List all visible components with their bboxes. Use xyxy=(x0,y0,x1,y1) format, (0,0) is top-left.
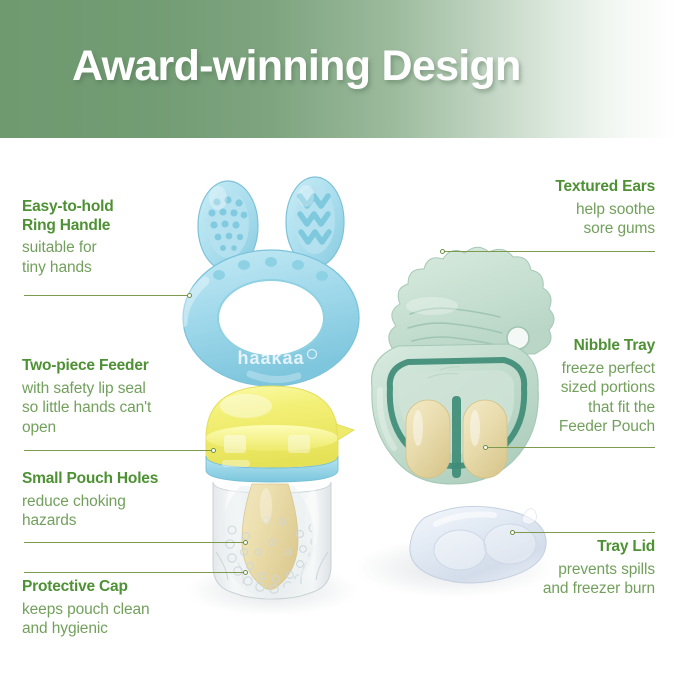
connector-line xyxy=(483,447,655,448)
connector-line xyxy=(510,532,655,533)
connector-line xyxy=(440,251,655,252)
callout-easy-to-hold-ring-handle: Easy-to-hold Ring Handle suitable for ti… xyxy=(22,198,232,277)
callout-body-line: and freezer burn xyxy=(440,579,655,599)
connector-dot xyxy=(211,448,216,453)
infographic-page: Award-winning Design xyxy=(0,0,679,679)
callout-body-line: keeps pouch clean xyxy=(22,600,237,620)
callout-body-line: that fit the xyxy=(440,398,655,418)
connector-dot xyxy=(187,293,192,298)
connector-line xyxy=(24,450,216,451)
connector-line xyxy=(24,542,248,543)
connector-dot xyxy=(510,530,515,535)
connector-line xyxy=(24,295,192,296)
callout-title-line: Protective Cap xyxy=(22,578,237,597)
callout-title-line: Textured Ears xyxy=(440,178,655,197)
connector-dot xyxy=(243,570,248,575)
connector-small-pouch-holes xyxy=(24,538,248,548)
connector-line xyxy=(24,572,248,573)
header-banner: Award-winning Design xyxy=(0,0,679,138)
callout-body-line: Feeder Pouch xyxy=(440,417,655,437)
callout-tray-lid: Tray Lid prevents spills and freezer bur… xyxy=(440,538,655,599)
connector-textured-ears xyxy=(440,247,655,257)
brand-emboss: haakaa xyxy=(237,348,304,368)
connector-dot xyxy=(483,445,488,450)
callout-body-line: help soothe xyxy=(440,200,655,220)
callout-protective-cap: Protective Cap keeps pouch clean and hyg… xyxy=(22,578,237,639)
callout-nibble-tray: Nibble Tray freeze perfect sized portion… xyxy=(440,337,655,437)
callout-title-line: Tray Lid xyxy=(440,538,655,557)
callout-body-line: and hygienic xyxy=(22,619,237,639)
callout-body-line: sized portions xyxy=(440,378,655,398)
callout-title-line: Easy-to-hold xyxy=(22,198,232,217)
callout-title-line: Small Pouch Holes xyxy=(22,470,237,489)
callout-title-line: Two-piece Feeder xyxy=(22,357,237,376)
callout-body-line: sore gums xyxy=(440,219,655,239)
callout-body-line: prevents spills xyxy=(440,560,655,580)
callout-body-line: with safety lip seal xyxy=(22,379,237,399)
connector-tray-lid xyxy=(510,528,655,538)
callout-body-line: tiny hands xyxy=(22,258,232,278)
connector-easy-to-hold-ring-handle xyxy=(24,291,192,301)
callout-body-line: open xyxy=(22,418,237,438)
callout-body-line: so little hands can't xyxy=(22,398,237,418)
callout-body-line: suitable for xyxy=(22,238,232,258)
callout-small-pouch-holes: Small Pouch Holes reduce choking hazards xyxy=(22,470,237,531)
callout-textured-ears: Textured Ears help soothe sore gums xyxy=(440,178,655,239)
page-title: Award-winning Design xyxy=(72,42,521,91)
connector-two-piece-feeder xyxy=(24,446,216,456)
callout-body-line: hazards xyxy=(22,511,237,531)
callout-title-line: Ring Handle xyxy=(22,217,232,236)
connector-nibble-tray xyxy=(483,443,655,453)
connector-protective-cap xyxy=(24,568,248,578)
callout-two-piece-feeder: Two-piece Feeder with safety lip seal so… xyxy=(22,357,237,437)
callout-body-line: reduce choking xyxy=(22,492,237,512)
callout-title-line: Nibble Tray xyxy=(440,337,655,356)
connector-dot xyxy=(440,249,445,254)
connector-dot xyxy=(243,540,248,545)
callout-body-line: freeze perfect xyxy=(440,359,655,379)
